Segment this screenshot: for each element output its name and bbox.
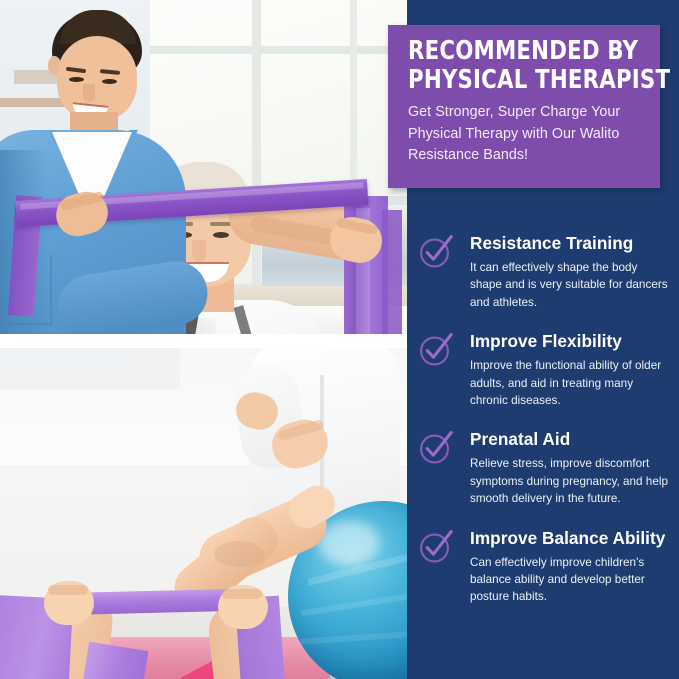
- banner-title-line2: PHYSICAL THERAPIST: [408, 66, 629, 95]
- feature-title: Improve Balance Ability: [470, 527, 670, 549]
- senior-woman-eyebrow: [210, 222, 231, 226]
- window-frame-horizontal: [150, 46, 407, 54]
- senior-woman-nose: [192, 240, 206, 262]
- child-exercise-ball-photo: [0, 345, 407, 679]
- therapist-eye: [69, 77, 84, 82]
- therapist-eye: [102, 79, 117, 84]
- photo-column: [0, 0, 407, 679]
- feature-list: Resistance Training It can effectively s…: [418, 232, 670, 606]
- feature-title: Improve Flexibility: [470, 330, 670, 352]
- feature-description: Can effectively improve children's balan…: [470, 554, 668, 606]
- check-circle-icon: [418, 331, 454, 367]
- senior-woman-eye: [213, 232, 229, 238]
- feature-item-resistance-training: Resistance Training It can effectively s…: [418, 232, 670, 311]
- feature-item-prenatal-aid: Prenatal Aid Relieve stress, improve dis…: [418, 428, 670, 507]
- photo-divider: [0, 334, 407, 348]
- feature-description: It can effectively shape the body shape …: [470, 259, 668, 311]
- ball-gloss: [318, 521, 380, 565]
- wall-panel: [0, 345, 180, 389]
- feature-item-improve-balance-ability: Improve Balance Ability Can effectively …: [418, 527, 670, 606]
- check-circle-icon: [418, 528, 454, 564]
- feature-title: Resistance Training: [470, 232, 670, 254]
- feature-description: Improve the functional ability of older …: [470, 357, 668, 409]
- child-knuckles: [48, 585, 88, 595]
- therapist-assisting-senior-woman-photo: [0, 0, 407, 341]
- check-circle-icon: [418, 429, 454, 465]
- feature-item-improve-flexibility: Improve Flexibility Improve the function…: [418, 330, 670, 409]
- feature-description: Relieve stress, improve discomfort sympt…: [470, 455, 668, 507]
- feature-title: Prenatal Aid: [470, 428, 670, 450]
- banner-title-line1: RECOMMENDED BY: [408, 37, 629, 66]
- product-infographic: RECOMMENDED BY PHYSICAL THERAPIST Get St…: [0, 0, 679, 679]
- child-knuckles: [222, 589, 262, 599]
- therapist-nose: [83, 84, 95, 102]
- check-circle-icon: [418, 233, 454, 269]
- headline-banner: RECOMMENDED BY PHYSICAL THERAPIST Get St…: [388, 25, 660, 188]
- resistance-band-hanging-fold: [382, 210, 402, 341]
- child-knee-shading: [214, 541, 264, 567]
- banner-subtitle: Get Stronger, Super Charge Your Physical…: [408, 102, 646, 167]
